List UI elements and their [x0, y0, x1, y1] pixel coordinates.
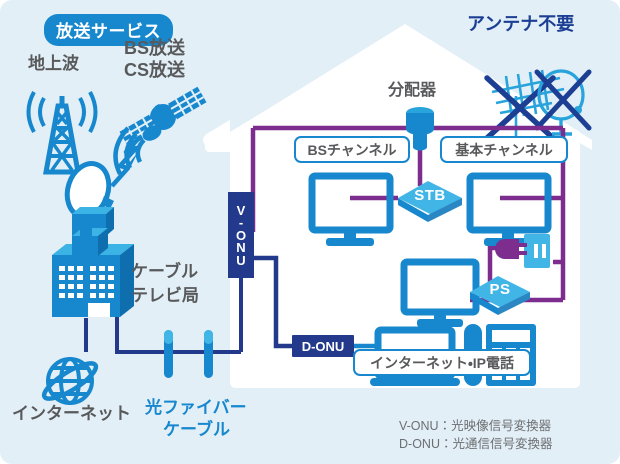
label-splitter: 分配器 — [388, 82, 436, 100]
satellite-icon — [116, 87, 207, 174]
pill-bs-channel: BSチャンネル — [294, 136, 410, 163]
stb-label: STB — [398, 178, 462, 212]
legend: V-ONU：光映像信号変換器 D-ONU：光通信信号変換器 — [399, 417, 552, 453]
pill-internet-ip-phone: インターネット・IP電話 — [353, 349, 531, 376]
ps-chip: PS — [470, 276, 530, 308]
network-diagram: 放送サービス 地上波 BS放送 CS放送 アンテナ不要 分配器 ケーブル テレビ… — [0, 0, 620, 464]
internet-globe-icon — [40, 357, 100, 404]
broadcast-tower-icon — [29, 92, 96, 172]
legend-item-donu: D-ONU：光通信信号変換器 — [399, 435, 552, 453]
diagram-canvas — [0, 0, 620, 464]
cable-station-icon — [52, 226, 134, 317]
label-fiber-line2: ケーブル — [163, 420, 230, 439]
legend-item-vonu: V-ONU：光映像信号変換器 — [399, 417, 552, 435]
label-fiber-line1: 光ファイバー — [145, 398, 247, 417]
label-antenna-not-required: アンテナ不要 — [467, 14, 574, 34]
label-internet: インターネット — [12, 404, 131, 423]
vonu-tag: V - O N U — [228, 192, 254, 278]
label-cable-station-line2: テレビ局 — [131, 286, 199, 305]
stb-chip: STB — [398, 181, 462, 215]
label-cs-broadcast: CS放送 — [124, 60, 185, 80]
pill-basic-channel: 基本チャンネル — [440, 136, 568, 163]
label-terrestrial: 地上波 — [28, 54, 79, 73]
donu-tag: D-ONU — [292, 335, 354, 357]
ps-label: PS — [470, 273, 530, 305]
label-cable-station-line1: ケーブル — [131, 262, 198, 281]
vonu-char-u: U — [236, 255, 245, 267]
label-bs-broadcast: BS放送 — [124, 38, 185, 58]
